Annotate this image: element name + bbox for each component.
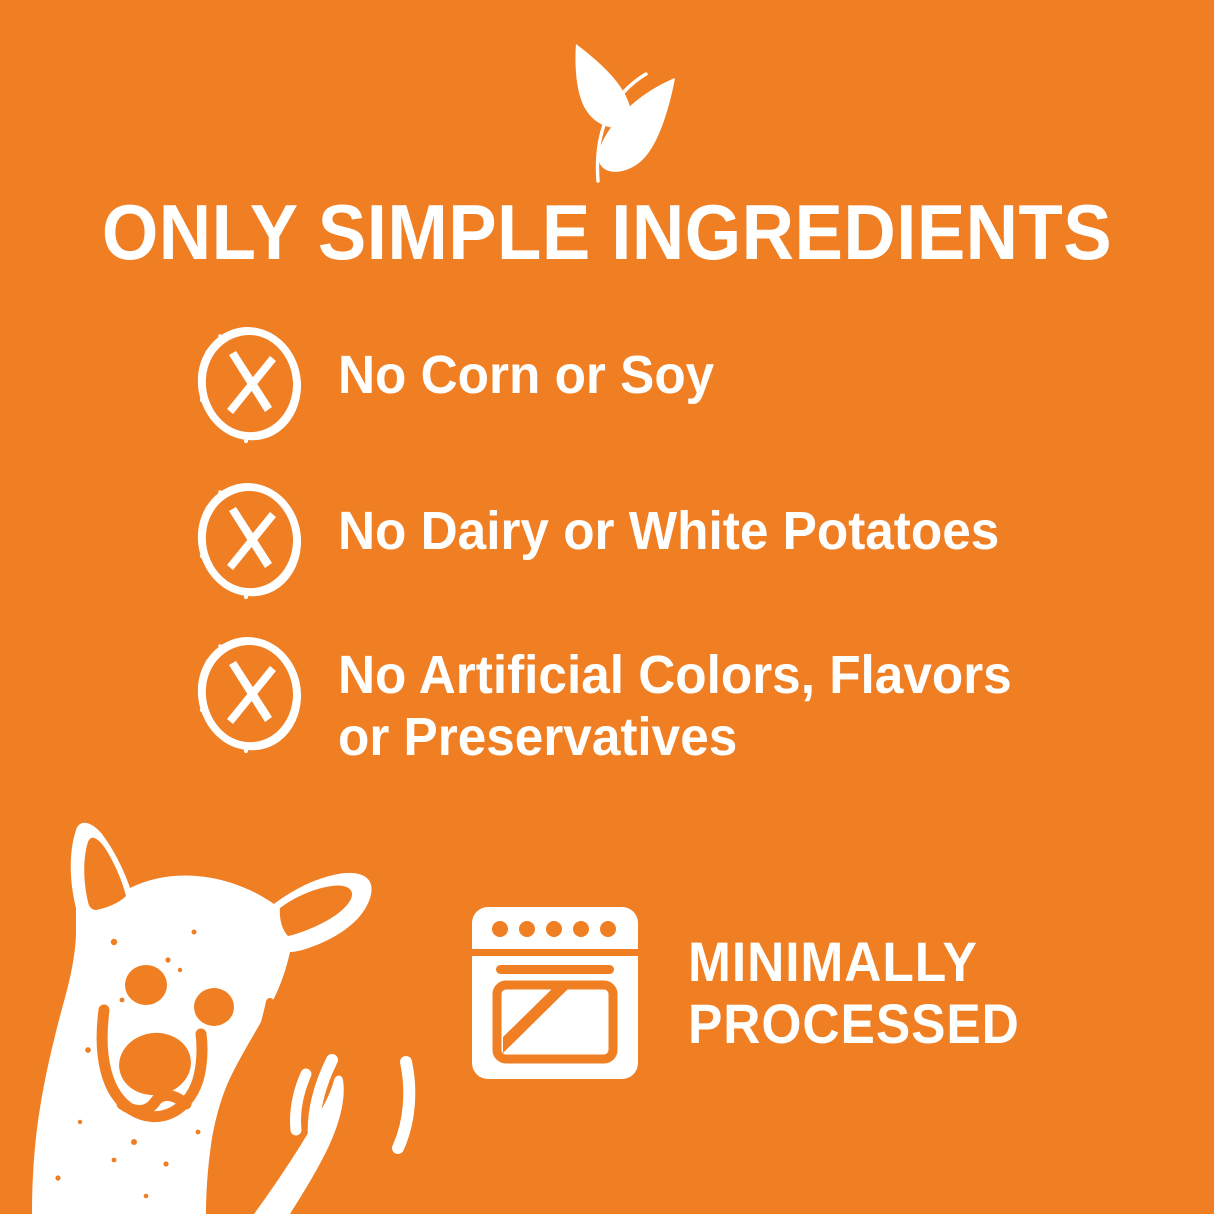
x-in-circle-icon [186, 322, 310, 446]
minimally-processed-badge: MINIMALLY PROCESSED [470, 905, 1049, 1081]
page-title: ONLY SIMPLE INGREDIENTS [42, 190, 1171, 274]
list-item: No Dairy or White Potatoes [186, 478, 1086, 602]
badge-label: MINIMALLY PROCESSED [688, 931, 1020, 1055]
dog-icon [18, 812, 438, 1214]
leaf-icon [546, 36, 686, 184]
x-in-circle-icon [186, 478, 310, 602]
list-item: No Corn or Soy [186, 322, 1086, 446]
list-item-label: No Artificial Colors, Flavors or Preserv… [338, 632, 1012, 768]
list-item-label: No Corn or Soy [338, 322, 714, 406]
ingredient-claims-list: No Corn or Soy No Dairy or White Potatoe… [186, 322, 1086, 768]
x-in-circle-icon [186, 632, 310, 756]
oven-icon [470, 905, 640, 1081]
poster-canvas: ONLY SIMPLE INGREDIENTS No Corn or Soy [0, 0, 1214, 1214]
list-item: No Artificial Colors, Flavors or Preserv… [186, 632, 1086, 768]
list-item-label: No Dairy or White Potatoes [338, 478, 999, 562]
